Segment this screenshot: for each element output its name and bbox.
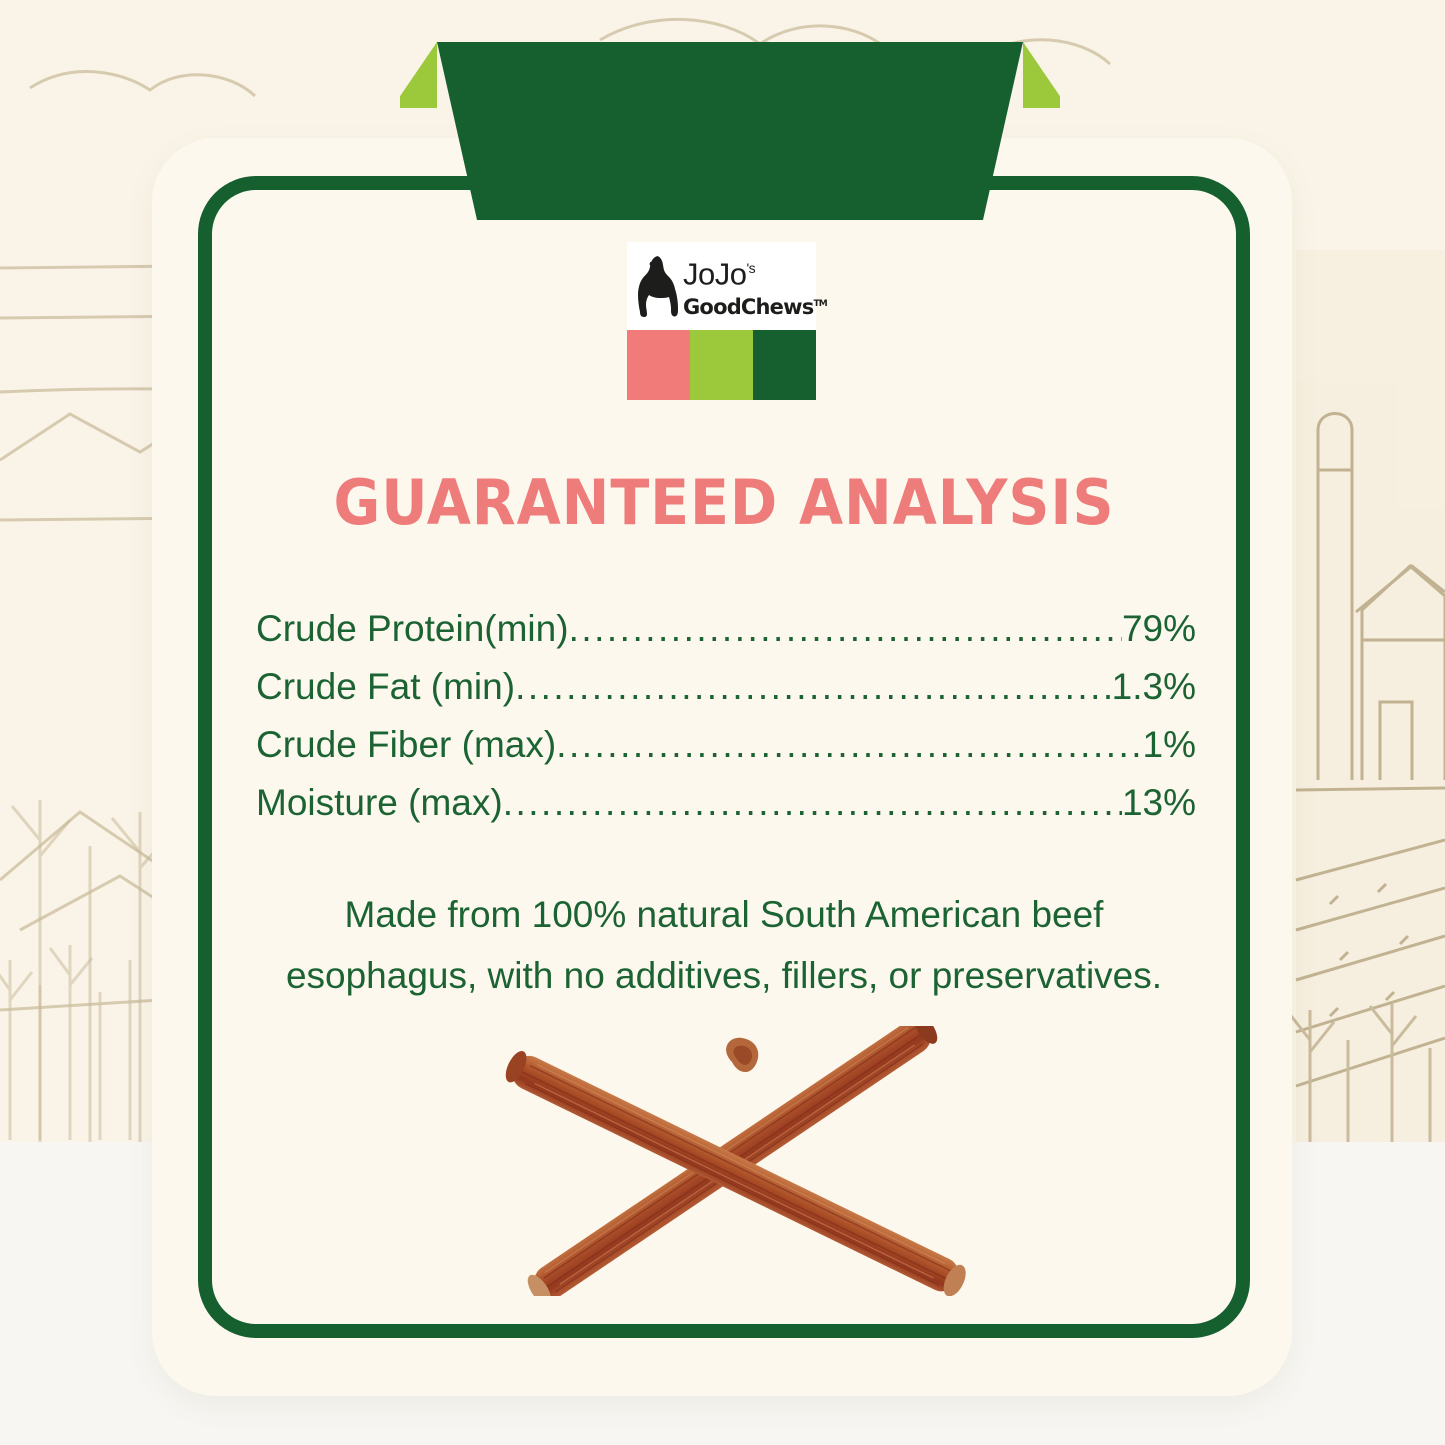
analysis-row: Crude Protein(min) .....................… [256,600,1196,658]
analysis-row: Crude Fat (min) ........................… [256,658,1196,716]
ribbon-tail-right [1023,42,1060,108]
analysis-row: Crude Fiber (max) ......................… [256,716,1196,774]
nutrient-label: Moisture (max) [256,774,503,832]
page-title: GUARANTEED ANALYSIS [240,466,1208,539]
nutrient-label: Crude Protein(min) [256,600,569,658]
swatch-green [753,330,816,400]
dog-silhouette-icon [635,254,681,318]
nutrient-label: Crude Fat (min) [256,658,515,716]
description-line-1: Made from 100% natural South American be… [222,884,1226,945]
logo-brand-line1: JoJo's [683,252,813,290]
logo-brand-line2: GoodChewsTM [683,292,813,319]
infographic-page: JoJo's GoodChewsTM GUARANTEED ANALYSIS C… [0,0,1445,1445]
nutrient-value: 1.3% [1112,658,1196,716]
product-description: Made from 100% natural South American be… [222,884,1226,1006]
ribbon-tail-left [400,42,437,108]
analysis-row: Moisture (max) .........................… [256,774,1196,832]
leader-dots: ........................................… [569,600,1122,658]
leader-dots: ........................................… [515,658,1112,716]
nutrient-value: 79% [1122,600,1196,658]
leader-dots: ........................................… [556,716,1142,774]
description-line-2: esophagus, with no additives, fillers, o… [222,945,1226,1006]
swatch-lime [690,330,753,400]
brand-logo: JoJo's GoodChewsTM [627,242,816,400]
logo-text: JoJo's GoodChewsTM [683,252,813,322]
logo-wordmark-area: JoJo's GoodChewsTM [627,242,816,330]
nutrient-value: 1% [1143,716,1196,774]
leader-dots: ........................................… [503,774,1122,832]
logo-color-swatches [627,330,816,400]
nutrient-label: Crude Fiber (max) [256,716,556,774]
nutrient-value: 13% [1122,774,1196,832]
swatch-salmon [627,330,690,400]
guaranteed-analysis-list: Crude Protein(min) .....................… [256,600,1196,832]
bully-sticks-photo [440,1026,1020,1296]
trademark-mark: TM [813,299,827,309]
